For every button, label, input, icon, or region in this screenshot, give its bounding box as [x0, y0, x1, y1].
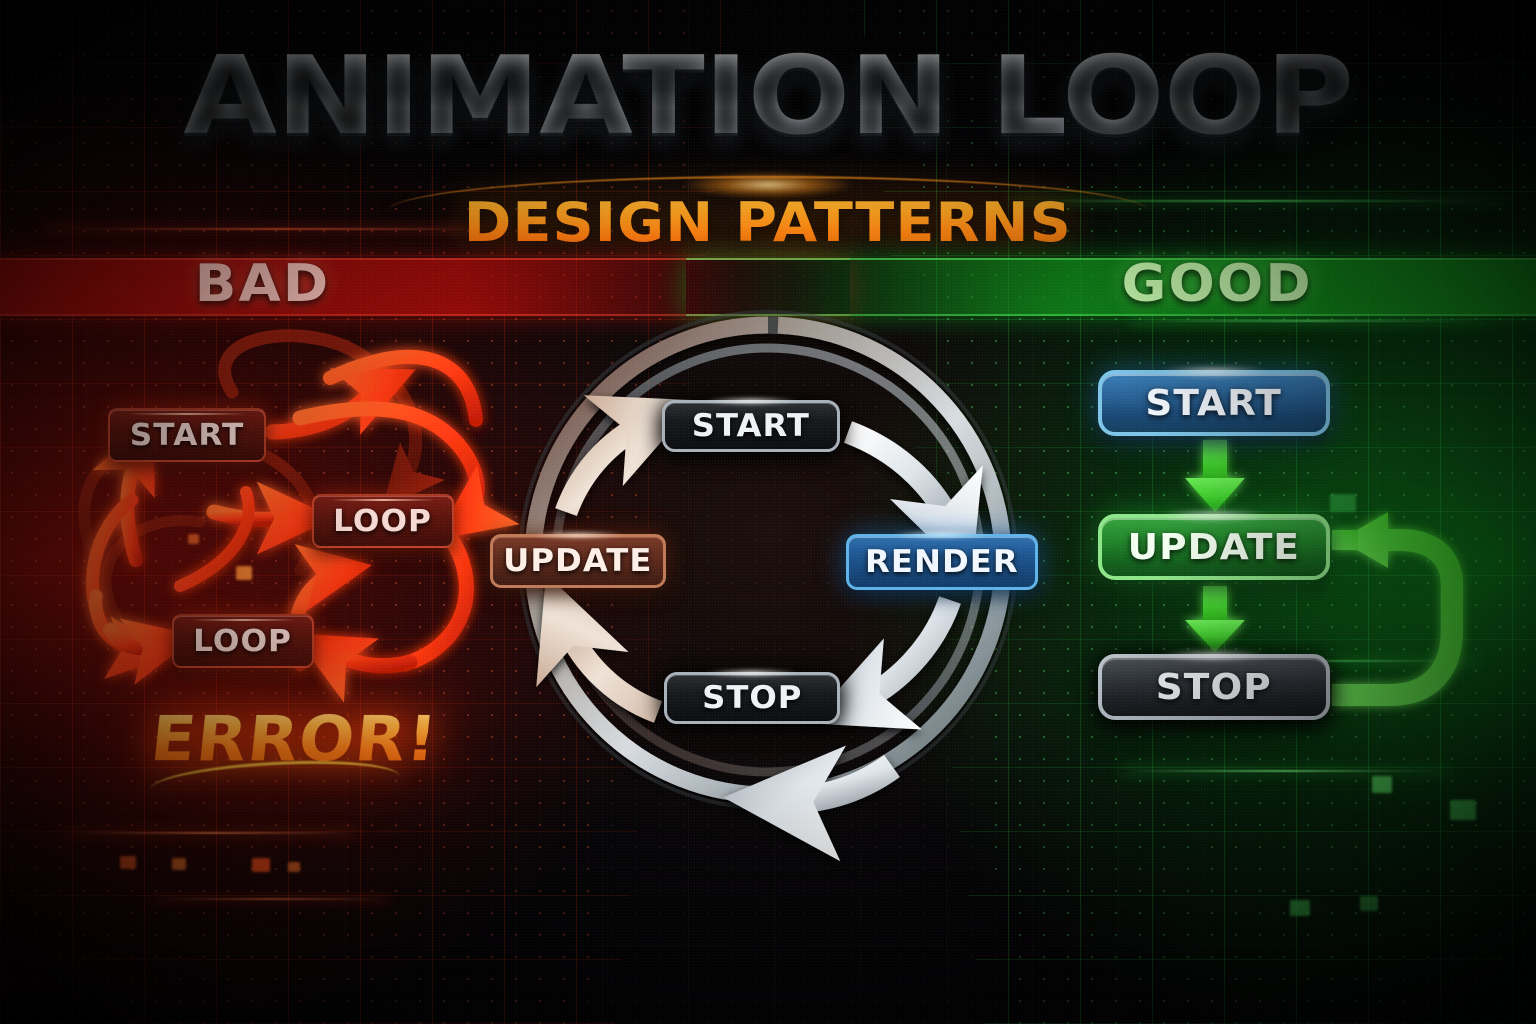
center-node-stop[interactable]: STOP	[664, 672, 840, 724]
good-node-start[interactable]: START	[1098, 370, 1330, 436]
center-node-start[interactable]: START	[662, 400, 840, 452]
tech-streak	[150, 898, 390, 900]
bad-node-start-label: START	[130, 418, 245, 453]
center-node-stop-label: STOP	[702, 680, 802, 716]
tech-square	[1330, 494, 1356, 512]
bad-label: BAD	[195, 254, 330, 314]
tech-square	[252, 858, 270, 872]
tech-streak	[60, 832, 360, 834]
bad-node-start[interactable]: START	[108, 408, 266, 462]
center-node-start-label: START	[692, 408, 810, 444]
good-node-stop[interactable]: STOP	[1098, 654, 1330, 720]
good-node-stop-label: STOP	[1156, 667, 1272, 708]
tech-square	[1290, 900, 1310, 916]
good-label: GOOD	[1121, 254, 1312, 314]
bad-node-loop-2-label: LOOP	[194, 624, 293, 659]
page-subtitle: DESIGN PATTERNS	[0, 191, 1536, 254]
tech-square	[188, 534, 199, 544]
tech-square	[288, 862, 300, 872]
tech-square	[1450, 800, 1476, 820]
good-node-start-label: START	[1146, 383, 1282, 424]
title-text: ANIMATION LOOP	[183, 34, 1353, 159]
tech-streak	[1120, 770, 1450, 772]
center-node-render-label: RENDER	[865, 544, 1019, 580]
tech-square	[1360, 896, 1378, 911]
tech-square	[120, 856, 136, 869]
tech-square	[1372, 776, 1392, 793]
center-node-update[interactable]: UPDATE	[490, 534, 666, 588]
tech-square	[236, 566, 252, 580]
good-node-update-label: UPDATE	[1128, 527, 1300, 568]
bad-node-loop-1[interactable]: LOOP	[312, 494, 454, 548]
subtitle-text: DESIGN PATTERNS	[464, 191, 1072, 254]
bad-node-loop-2[interactable]: LOOP	[172, 614, 314, 668]
good-node-update[interactable]: UPDATE	[1098, 514, 1330, 580]
tech-streak	[1130, 320, 1490, 322]
center-node-update-label: UPDATE	[503, 543, 652, 579]
center-node-render[interactable]: RENDER	[846, 534, 1038, 590]
page-title: ANIMATION LOOP	[0, 34, 1536, 159]
bad-node-loop-1-label: LOOP	[334, 504, 433, 539]
infographic-canvas: ANIMATION LOOP DESIGN PATTERNS BAD GOOD	[0, 0, 1536, 1024]
good-band	[686, 258, 1536, 316]
tech-square	[172, 858, 186, 870]
